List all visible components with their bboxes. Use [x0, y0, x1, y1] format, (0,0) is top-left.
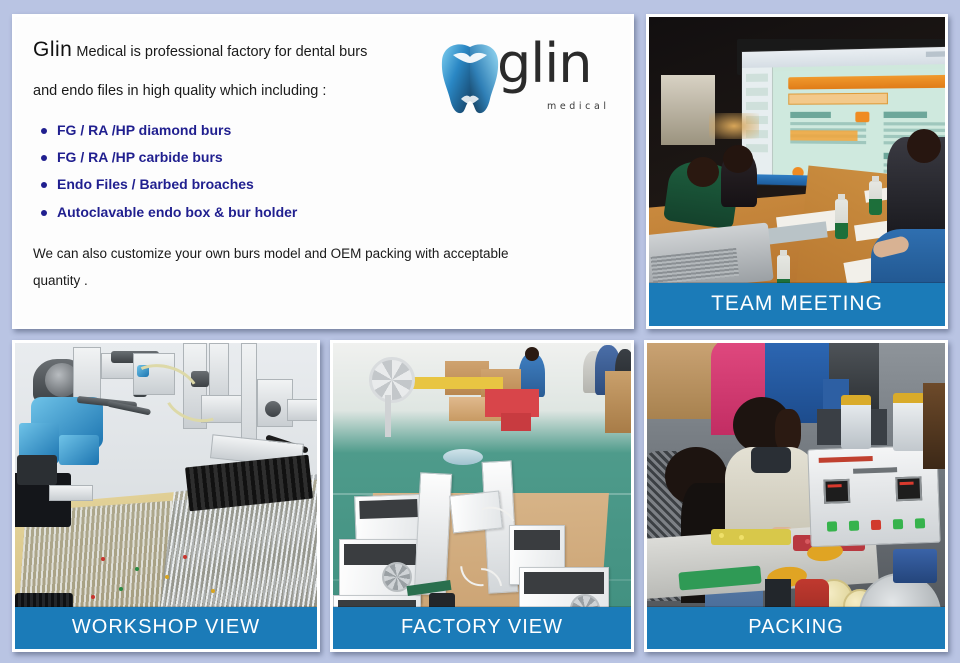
tooth-icon	[439, 43, 501, 115]
photo-team-meeting: TEAM MEETING	[646, 14, 948, 329]
photo-caption: WORKSHOP VIEW	[15, 607, 317, 649]
intro-headline-line1: Medical is professional factory for dent…	[76, 44, 367, 60]
list-item: Endo Files / Barbed broaches	[41, 177, 613, 192]
photo-caption: FACTORY VIEW	[333, 607, 631, 649]
photo-caption: PACKING	[647, 607, 945, 649]
photo-caption: TEAM MEETING	[649, 283, 945, 326]
photo-image: PACKING	[647, 343, 945, 649]
brand-name: Glin	[33, 38, 72, 61]
intro-footer-line1: We can also customize your own burs mode…	[33, 240, 613, 267]
photo-image: TEAM MEETING	[649, 17, 945, 326]
logo-wordmark: glin	[497, 37, 592, 91]
photo-packing: PACKING	[644, 340, 948, 652]
intro-footer: We can also customize your own burs mode…	[33, 240, 613, 294]
company-profile-banner: Glin Medical is professional factory for…	[0, 0, 960, 663]
intro-footer-line2: quantity .	[33, 267, 613, 294]
list-item: Autoclavable endo box & bur holder	[41, 205, 613, 220]
photo-workshop-view: WORKSHOP VIEW	[12, 340, 320, 652]
photo-factory-view: FACTORY VIEW	[330, 340, 634, 652]
photo-image: FACTORY VIEW	[333, 343, 631, 649]
product-list: FG / RA /HP diamond burs FG / RA /HP car…	[33, 123, 613, 221]
list-item: FG / RA /HP carbide burs	[41, 150, 613, 165]
intro-panel: Glin Medical is professional factory for…	[12, 14, 634, 329]
logo-tagline: medical	[547, 101, 610, 112]
company-logo: glin medical	[439, 41, 617, 127]
photo-image: WORKSHOP VIEW	[15, 343, 317, 649]
